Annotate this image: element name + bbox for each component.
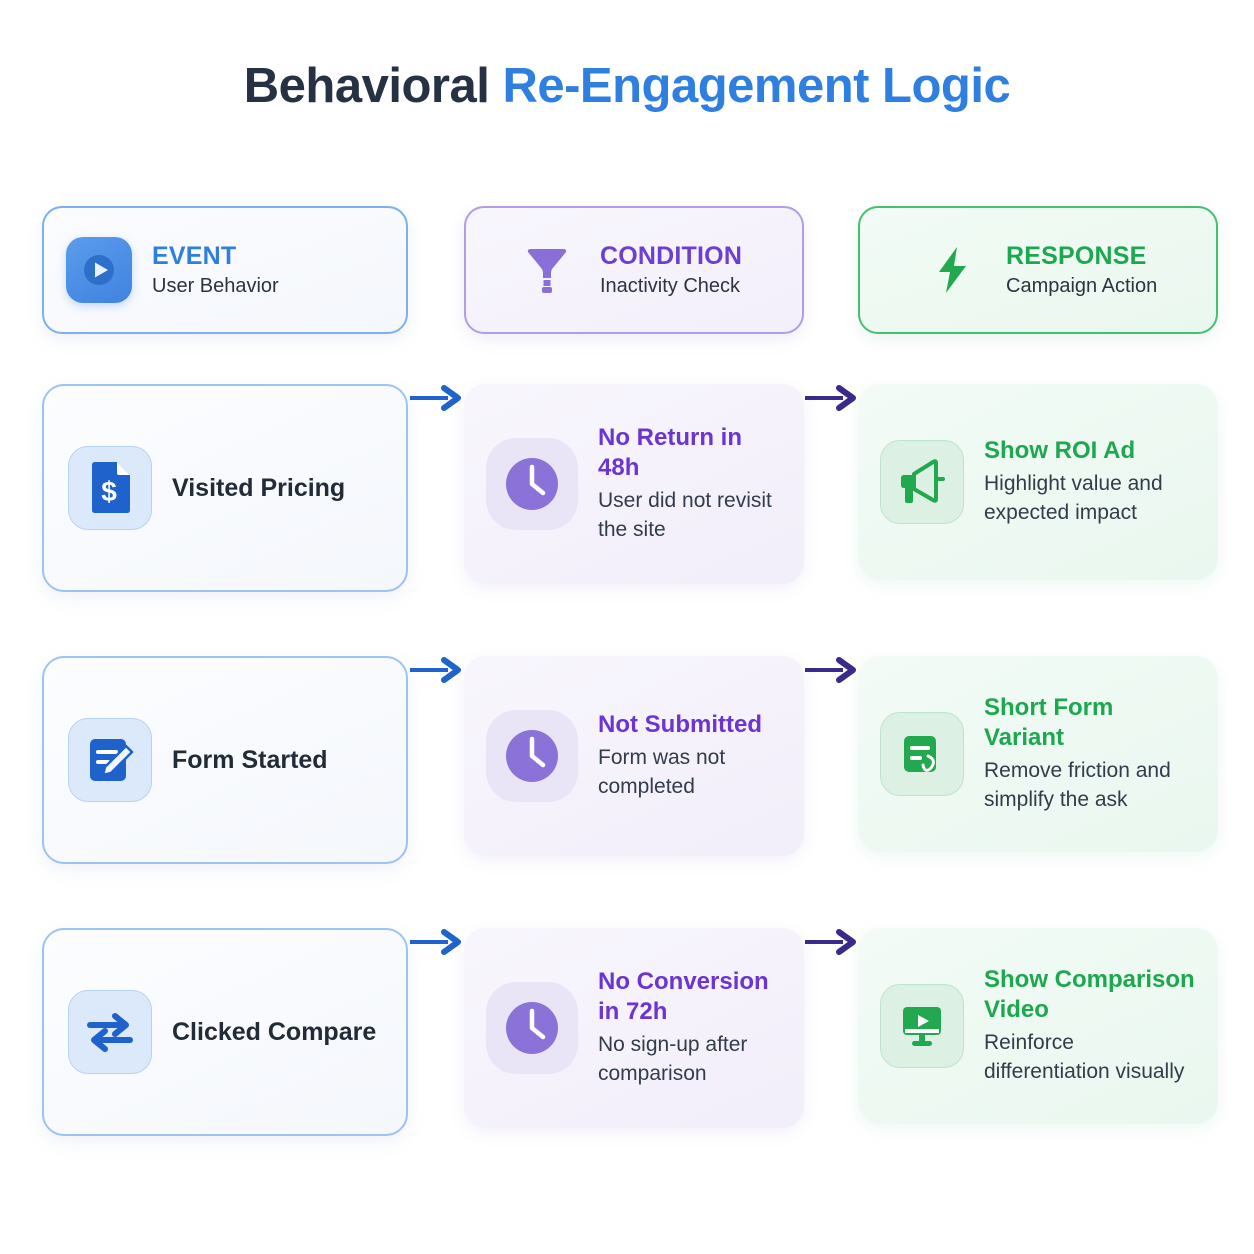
title-part-primary: Behavioral [244,59,503,113]
arrow-gap-2b [804,656,858,684]
response-title-2: Short Form Variant [984,693,1196,752]
flow-grid: EVENT User Behavior CONDITION Inactivity… [42,206,1218,1136]
svg-text:$: $ [101,476,117,507]
condition-desc-2: Form was not completed [598,744,782,802]
response-card-1[interactable]: Show ROI Ad Highlight value and expected… [858,384,1218,580]
play-circle-icon [66,237,132,303]
header-subtitle-condition: Inactivity Check [600,275,742,298]
condition-desc-3: No sign-up after comparison [598,1031,782,1089]
document-dollar-icon: $ [68,446,152,530]
header-subtitle-event: User Behavior [152,275,279,298]
monitor-play-icon [880,984,964,1068]
arrow-gap-1a [408,384,464,412]
arrow-right-blue-2 [408,656,464,684]
condition-title-3: No Conversion in 72h [598,967,782,1026]
event-card-2[interactable]: Form Started [42,656,408,864]
header-gap-2 [804,206,858,334]
row-spacer-2 [42,592,1218,656]
arrow-right-blue-3 [408,928,464,956]
arrow-right-purple-2 [804,656,858,684]
header-card-condition[interactable]: CONDITION Inactivity Check [464,206,804,334]
flow-row-3: Clicked Compare [42,928,1218,1136]
exchange-arrows-icon [68,990,152,1074]
lightning-bolt-icon [920,237,986,303]
clock-icon [486,982,578,1074]
event-label-2: Form Started [172,746,328,775]
arrow-right-purple-3 [804,928,858,956]
header-kind-event: EVENT [152,242,279,271]
arrow-gap-2a [408,656,464,684]
condition-card-3[interactable]: No Conversion in 72h No sign-up after co… [464,928,804,1128]
clock-icon [486,710,578,802]
condition-title-2: Not Submitted [598,710,782,739]
funnel-icon [514,237,580,303]
response-title-3: Show Comparison Video [984,965,1196,1024]
response-desc-1: Highlight value and expected impact [984,470,1196,528]
header-card-response[interactable]: RESPONSE Campaign Action [858,206,1218,334]
arrow-gap-3a [408,928,464,956]
condition-card-1[interactable]: No Return in 48h User did not revisit th… [464,384,804,584]
response-card-2[interactable]: Short Form Variant Remove friction and s… [858,656,1218,852]
clock-icon [486,438,578,530]
response-desc-2: Remove friction and simplify the ask [984,757,1196,815]
header-card-event[interactable]: EVENT User Behavior [42,206,408,334]
header-row: EVENT User Behavior CONDITION Inactivity… [42,206,1218,334]
row-spacer-1 [42,334,1218,384]
event-card-3[interactable]: Clicked Compare [42,928,408,1136]
condition-desc-1: User did not revisit the site [598,487,782,545]
short-form-icon [880,712,964,796]
header-kind-response: RESPONSE [1006,242,1157,271]
title-part-accent: Re-Engagement Logic [502,59,1010,113]
event-card-1[interactable]: $ Visited Pricing [42,384,408,592]
response-card-3[interactable]: Show Comparison Video Reinforce differen… [858,928,1218,1124]
header-subtitle-response: Campaign Action [1006,275,1157,298]
event-label-3: Clicked Compare [172,1018,376,1047]
condition-title-1: No Return in 48h [598,423,782,482]
event-label-1: Visited Pricing [172,474,345,503]
arrow-right-blue-1 [408,384,464,412]
response-title-1: Show ROI Ad [984,436,1196,465]
header-kind-condition: CONDITION [600,242,742,271]
condition-card-2[interactable]: Not Submitted Form was not completed [464,656,804,856]
header-gap-1 [408,206,464,334]
arrow-gap-3b [804,928,858,956]
arrow-right-purple-1 [804,384,858,412]
megaphone-icon [880,440,964,524]
row-spacer-3 [42,864,1218,928]
arrow-gap-1b [804,384,858,412]
form-edit-icon [68,718,152,802]
flow-row-1: $ Visited Pricing [42,384,1218,592]
response-desc-3: Reinforce differentiation visually [984,1029,1196,1087]
flow-row-2: Form Started Not [42,656,1218,864]
page-title: Behavioral Re-Engagement Logic [0,58,1254,114]
